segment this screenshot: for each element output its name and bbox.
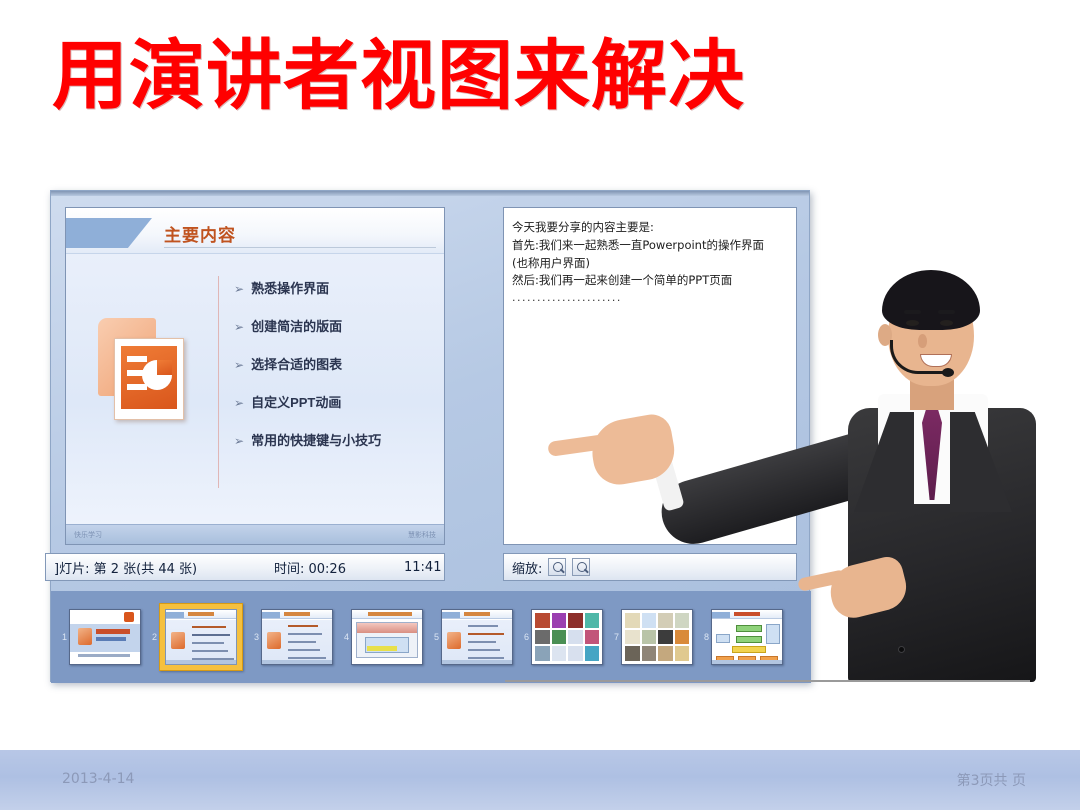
list-item-label: 熟悉操作界面 [251, 278, 329, 297]
list-item: ➢ 熟悉操作界面 [234, 278, 434, 297]
list-item-label: 常用的快捷键与小技巧 [251, 430, 381, 449]
arrow-bullet-icon: ➢ [234, 320, 244, 334]
powerpoint-icon [98, 318, 188, 422]
list-item: ➢ 自定义PPT动画 [234, 392, 434, 411]
thumbnail-preview[interactable] [441, 609, 513, 665]
notes-line: 然后:我们再一起来创建一个简单的PPT页面 [512, 272, 790, 290]
notes-line: 今天我要分享的内容主要是: [512, 219, 790, 237]
window-top-strip [51, 191, 809, 196]
page-title: 用演讲者视图来解决 [52, 38, 745, 114]
presenter-status-bar: ]灯片: 第 2 张(共 44 张) 时间: 00:26 11:41 [45, 553, 445, 581]
thumbnail-preview[interactable] [69, 609, 141, 665]
list-item-label: 创建简洁的版面 [251, 316, 342, 335]
slide-heading: 主要内容 [164, 221, 236, 246]
slide-heading-rule [164, 247, 436, 248]
slide-counter-label: ]灯片: 第 2 张(共 44 张) [54, 558, 197, 577]
slide-footer-bar: 2013-4-14 第3页共 页 [0, 750, 1080, 810]
headset-microphone-tip [942, 368, 954, 377]
arrow-bullet-icon: ➢ [234, 358, 244, 372]
eye-left [906, 320, 919, 326]
slide-header-tab-shape [66, 218, 152, 248]
thumbnail-number: 7 [611, 632, 619, 642]
thumbnail-preview[interactable] [621, 609, 693, 665]
thumbnail-item-selected[interactable]: 2 [149, 603, 243, 671]
zoom-in-icon[interactable] [548, 558, 566, 576]
list-item-label: 自定义PPT动画 [251, 392, 341, 411]
slide-header: 主要内容 [66, 208, 444, 254]
list-item: ➢ 创建简洁的版面 [234, 316, 434, 335]
zoom-label: 缩放: [512, 558, 542, 577]
bullet-divider-rule [218, 276, 219, 488]
footer-page-number: 第3页共 页 [957, 770, 1026, 790]
thumbnail-item[interactable]: 6 [521, 609, 603, 665]
slide-footer-right: 慧影科技 [408, 530, 436, 540]
clock-label: 11:41 [404, 560, 441, 575]
thumbnail-number: 5 [431, 632, 439, 642]
slide-thumbnail-filmstrip[interactable]: 1 2 [51, 591, 811, 683]
notes-dotted-line: ······················ [512, 292, 790, 309]
eyebrow-left [904, 310, 921, 314]
arrow-bullet-icon: ➢ [234, 396, 244, 410]
horizontal-divider-rule [505, 680, 1030, 682]
thumbnail-number: 4 [341, 632, 349, 642]
thumbnail-item[interactable]: 4 [341, 609, 423, 665]
thumbnail-preview[interactable] [261, 609, 333, 665]
timer-label: 时间: 00:26 [274, 558, 346, 577]
eyebrow-right [938, 310, 955, 314]
arrow-bullet-icon: ➢ [234, 434, 244, 448]
speaker-notes-text: 今天我要分享的内容主要是: 首先:我们来一起熟悉一直Powerpoint的操作界… [504, 208, 796, 309]
thumbnail-number: 8 [701, 632, 709, 642]
notes-line: (也称用户界面) [512, 255, 790, 273]
slide-footer: 快乐学习 慧影科技 [66, 524, 444, 544]
slide-body: ➢ 熟悉操作界面 ➢ 创建简洁的版面 ➢ 选择合适的图表 ➢ 自定义PPT动画 … [66, 254, 444, 525]
presenter-view-window: 主要内容 ➢ 熟悉操作界面 [50, 190, 810, 682]
thumbnail-preview[interactable] [531, 609, 603, 665]
thumbnail-preview-selected[interactable] [159, 603, 243, 671]
thumbnail-item[interactable]: 3 [251, 609, 333, 665]
bullet-list: ➢ 熟悉操作界面 ➢ 创建简洁的版面 ➢ 选择合适的图表 ➢ 自定义PPT动画 … [234, 278, 434, 468]
slide-footer-left: 快乐学习 [74, 530, 102, 540]
thumbnail-item[interactable]: 5 [431, 609, 513, 665]
suit-button [898, 646, 905, 653]
footer-date: 2013-4-14 [62, 771, 134, 787]
list-item: ➢ 常用的快捷键与小技巧 [234, 430, 434, 449]
zoom-controls-bar: 缩放: [503, 553, 797, 581]
list-item-label: 选择合适的图表 [251, 354, 342, 373]
list-item: ➢ 选择合适的图表 [234, 354, 434, 373]
hair [882, 270, 980, 330]
zoom-out-icon[interactable] [572, 558, 590, 576]
notes-line: 首先:我们来一起熟悉一直Powerpoint的操作界面 [512, 237, 790, 255]
presenter-person-photo [770, 262, 1080, 682]
thumbnail-number: 6 [521, 632, 529, 642]
thumbnail-number: 2 [149, 632, 157, 642]
arrow-bullet-icon: ➢ [234, 282, 244, 296]
eye-right [940, 320, 953, 326]
thumbnail-item[interactable]: 7 [611, 609, 693, 665]
current-slide-pane[interactable]: 主要内容 ➢ 熟悉操作界面 [65, 207, 445, 545]
thumbnail-preview[interactable] [351, 609, 423, 665]
thumbnail-item[interactable]: 1 [59, 609, 141, 665]
thumbnail-number: 3 [251, 632, 259, 642]
thumbnail-number: 1 [59, 632, 67, 642]
